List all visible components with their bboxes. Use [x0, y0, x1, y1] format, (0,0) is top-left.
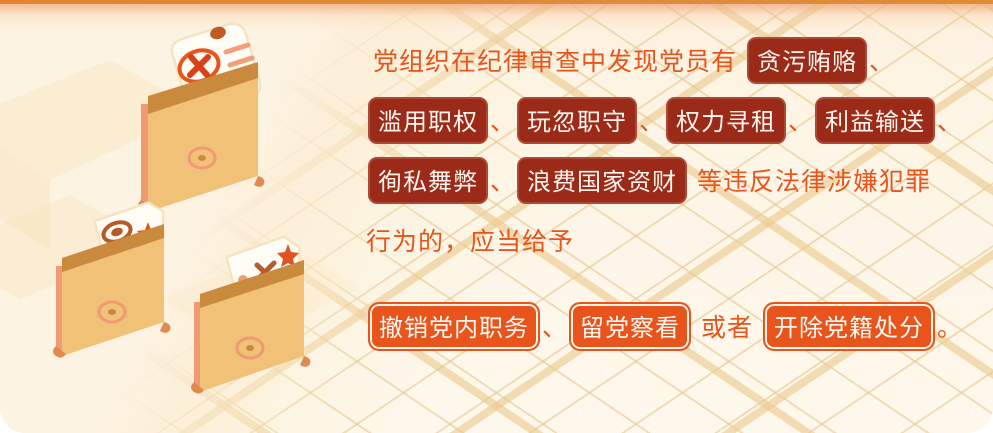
text-line-5: 撤销党内职务 、 留党察看 或者 开除党籍处分 。	[366, 296, 894, 356]
line4-text: 行为的，应当给予	[366, 222, 574, 258]
line3-tail: 等违反法律涉嫌犯罪	[697, 162, 931, 198]
line1-lead: 党组织在纪律审查中发现党员有	[373, 42, 737, 78]
line5-separator-1: 、	[542, 308, 567, 344]
text-line-4: 行为的，应当给予	[366, 210, 894, 270]
tag-liyishusong[interactable]: 利益输送	[815, 97, 935, 144]
line2-separator-2: 、	[639, 102, 664, 138]
line2-separator-1: 、	[490, 102, 515, 138]
tag-kaichudangjichufen[interactable]: 开除党籍处分	[763, 302, 935, 351]
tag-lanyongzhiquan[interactable]: 滥用职权	[368, 97, 488, 144]
line3-separator-1: 、	[490, 162, 515, 198]
line1-separator-1: 、	[869, 42, 894, 78]
isometric-folders-illustration	[0, 0, 360, 433]
tag-chexiaodangneizhiwu[interactable]: 撤销党内职务	[368, 302, 540, 351]
text-line-3: 徇私舞弊 、 浪费国家资财 等违反法律涉嫌犯罪	[366, 150, 894, 210]
text-line-1: 党组织在纪律审查中发现党员有 贪污贿赂 、	[366, 30, 894, 90]
tag-xusiwubi[interactable]: 徇私舞弊	[368, 157, 488, 204]
tag-langfeiguojiazicai[interactable]: 浪费国家资财	[517, 157, 687, 204]
tag-tanwuhuilu[interactable]: 贪污贿赂	[747, 37, 867, 84]
tag-liudangchakan[interactable]: 留党察看	[569, 302, 691, 351]
line5-period: 。	[937, 308, 962, 344]
folder-top	[138, 25, 264, 212]
infographic-poster: 党组织在纪律审查中发现党员有 贪污贿赂 、 滥用职权 、 玩忽职守 、 权力寻租…	[0, 0, 993, 433]
folder-bottom	[191, 238, 310, 394]
tag-quanlixunzu[interactable]: 权力寻租	[666, 97, 786, 144]
line2-separator-4: 、	[937, 102, 962, 138]
text-column: 党组织在纪律审查中发现党员有 贪污贿赂 、 滥用职权 、 玩忽职守 、 权力寻租…	[366, 30, 894, 356]
text-line-2: 滥用职权 、 玩忽职守 、 权力寻租 、 利益输送 、	[366, 90, 894, 150]
line2-separator-3: 、	[788, 102, 813, 138]
line5-conjunction: 或者	[701, 308, 753, 344]
tag-wanhuzhishou[interactable]: 玩忽职守	[517, 97, 637, 144]
